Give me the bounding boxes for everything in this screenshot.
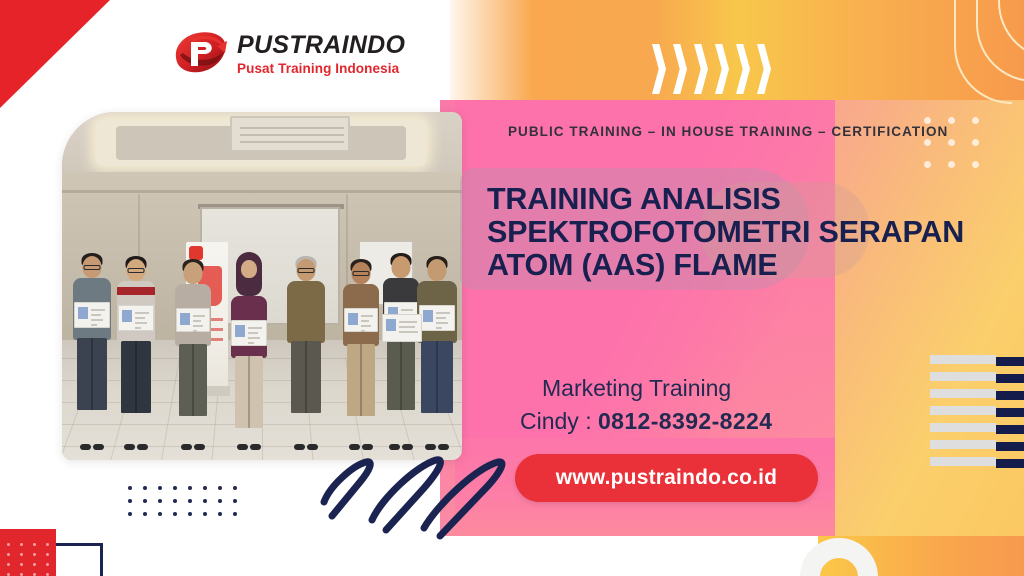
navy-zigzag-scribble-icon: [312, 442, 512, 542]
photo-person: [172, 250, 214, 450]
photo-person: [70, 250, 114, 450]
training-group-photo: [62, 112, 462, 460]
red-corner-triangle-icon: [0, 0, 110, 108]
marketing-role-label: Marketing Training: [487, 372, 907, 405]
website-button[interactable]: www.pustraindo.co.id: [515, 454, 818, 502]
title-line-2: SPEKTROFOTOMETRI SERAPAN: [487, 216, 987, 249]
marketing-contact-line: Cindy : 0812-8392-8224: [487, 405, 907, 438]
page-title: TRAINING ANALISIS SPEKTROFOTOMETRI SERAP…: [487, 183, 987, 282]
brand-logo[interactable]: PUSTRAINDO Pusat Training Indonesia: [175, 25, 405, 85]
contact-phone: 0812-8392-8224: [598, 408, 772, 434]
chevron-right-row-icon: [652, 44, 770, 94]
horizontal-bars-icon: [930, 355, 1024, 473]
promotional-banner: PUBLIC TRAINING – IN HOUSE TRAINING – CE…: [0, 0, 1024, 576]
photo-person: [228, 250, 270, 450]
red-dotted-square-icon: [0, 529, 56, 576]
photo-person: [284, 250, 328, 450]
contact-block: Marketing Training Cindy : 0812-8392-822…: [487, 372, 907, 438]
logo-tagline: Pusat Training Indonesia: [237, 61, 405, 76]
eyebrow-text: PUBLIC TRAINING – IN HOUSE TRAINING – CE…: [508, 124, 928, 139]
title-line-3: ATOM (AAS) FLAME: [487, 249, 987, 282]
photo-person: [340, 250, 382, 450]
contact-person-label: Cindy :: [520, 408, 598, 434]
logo-wordmark: PUSTRAINDO: [237, 31, 405, 60]
photo-person: [414, 250, 460, 450]
title-line-1: TRAINING ANALISIS: [487, 183, 987, 216]
pustraindo-p-globe-arrow-icon: [175, 29, 231, 81]
concentric-arc-lines-icon: [928, 0, 1024, 119]
photo-person: [114, 250, 158, 450]
photo-certificate: [382, 314, 422, 342]
dot-grid-icon-bottom: [128, 486, 248, 520]
